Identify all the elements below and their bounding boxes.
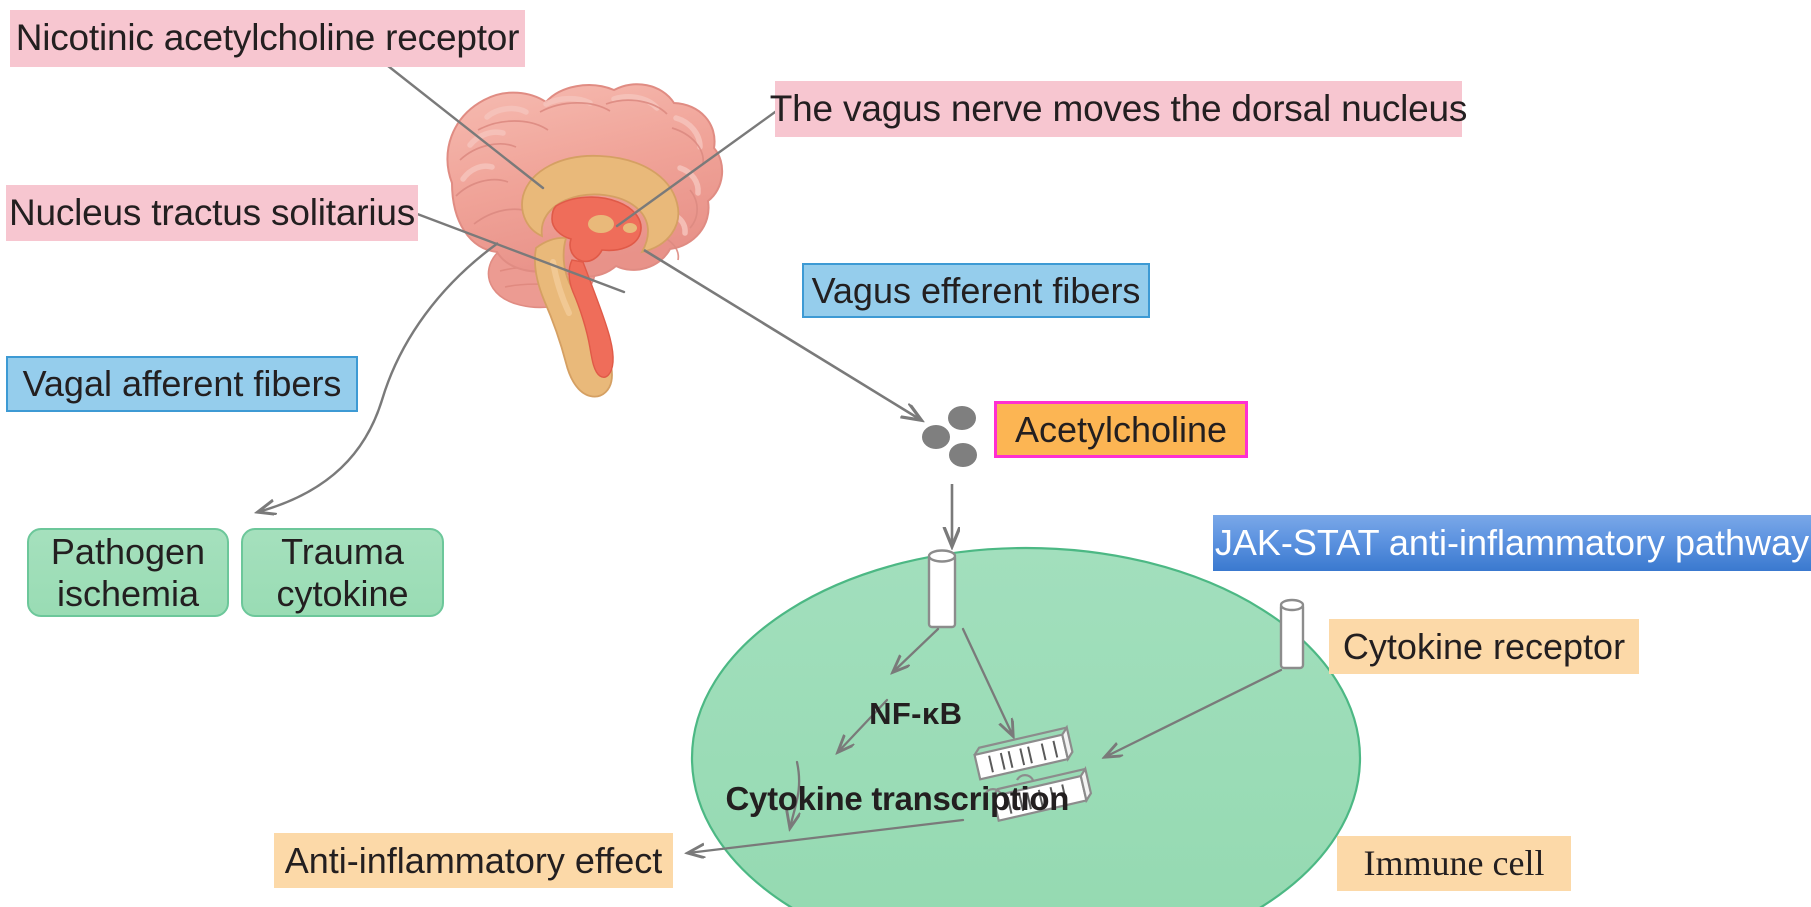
cytokine-receptor-channel: [1281, 600, 1303, 668]
label-text: Vagal afferent fibers: [23, 363, 342, 404]
label-text: Vagus efferent fibers: [812, 270, 1141, 311]
label-immune-cell[interactable]: Immune cell: [1337, 836, 1571, 891]
label-text-line-2: cytokine: [276, 573, 408, 614]
diagram-canvas: Nicotinic acetylcholine receptor The vag…: [0, 0, 1811, 907]
label-anti-inflammatory-effect[interactable]: Anti-inflammatory effect: [274, 833, 673, 888]
label-vagus-nerve-dorsal-nucleus[interactable]: The vagus nerve moves the dorsal nucleus: [775, 81, 1462, 137]
label-nucleus-tractus-solitarius[interactable]: Nucleus tractus solitarius: [6, 185, 418, 241]
label-cytokine-receptor[interactable]: Cytokine receptor: [1329, 619, 1639, 674]
nicotinic-receptor-channel: [929, 551, 955, 628]
label-text: JAK-STAT anti-inflammatory pathway: [1215, 522, 1809, 563]
label-text: Immune cell: [1364, 843, 1545, 884]
label-trauma-cytokine[interactable]: Trauma cytokine: [241, 528, 444, 617]
label-text: Acetylcholine: [1015, 409, 1227, 450]
label-pathogen-ischemia[interactable]: Pathogen ischemia: [27, 528, 229, 617]
label-vagal-afferent-fibers[interactable]: Vagal afferent fibers: [6, 356, 358, 412]
label-jak-stat-pathway[interactable]: JAK-STAT anti-inflammatory pathway: [1213, 515, 1811, 571]
label-text: The vagus nerve moves the dorsal nucleus: [770, 88, 1467, 131]
label-cytokine-transcription: Cytokine transcription: [690, 742, 1069, 856]
label-text: Cytokine receptor: [1343, 626, 1625, 667]
label-text-line-2: ischemia: [57, 573, 199, 614]
label-vagus-efferent-fibers[interactable]: Vagus efferent fibers: [802, 263, 1150, 318]
label-text: NF-κB: [869, 696, 962, 731]
label-text-line-1: Pathogen: [51, 531, 205, 572]
label-text: Cytokine transcription: [725, 780, 1069, 817]
label-text-line-1: Trauma: [281, 531, 404, 572]
label-text: Anti-inflammatory effect: [285, 840, 662, 881]
label-acetylcholine[interactable]: Acetylcholine: [994, 401, 1248, 458]
label-text: Nicotinic acetylcholine receptor: [16, 17, 520, 60]
label-nicotinic-acetylcholine-receptor[interactable]: Nicotinic acetylcholine receptor: [10, 10, 525, 67]
label-text: Nucleus tractus solitarius: [9, 192, 415, 235]
